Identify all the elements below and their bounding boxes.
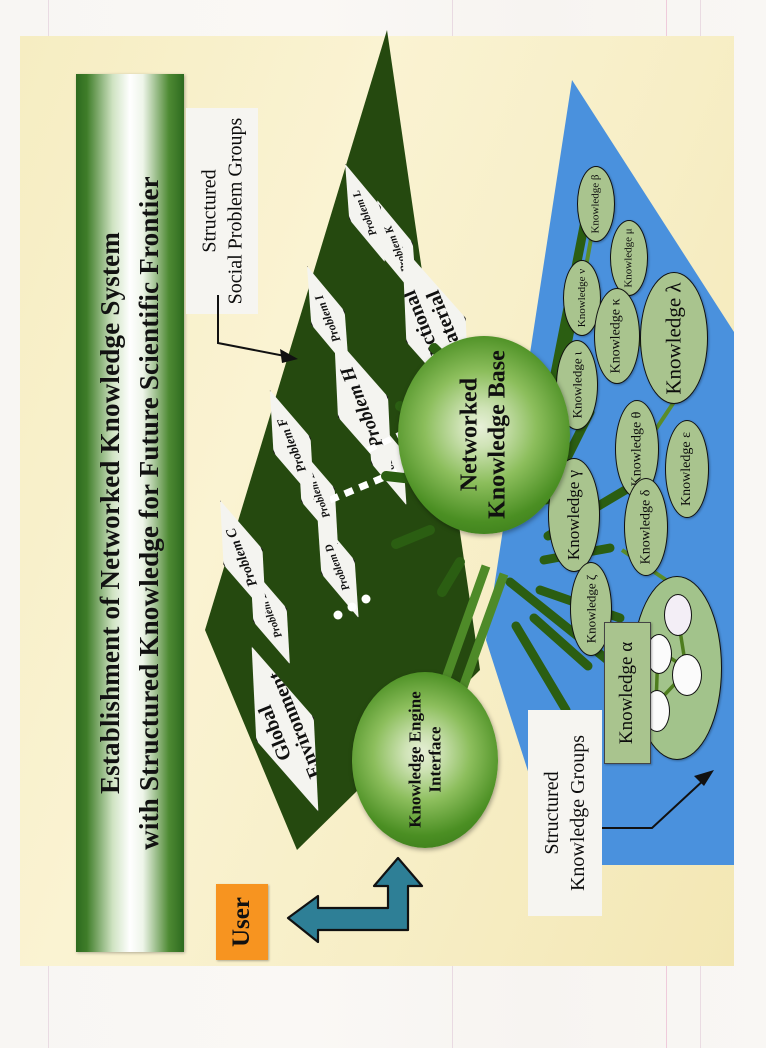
user-box[interactable]: User (216, 884, 268, 960)
callout-line-1: Structured (541, 771, 563, 854)
title-line-1: Establishment of Networked Knowledge Sys… (91, 83, 130, 943)
page-title: Establishment of Networked Knowledge Sys… (91, 83, 169, 943)
sphere-label-line-1: Knowledge Engine (405, 692, 424, 829)
callout-line-1: Structured (198, 169, 220, 252)
knowledge-node-alpha[interactable]: Knowledge α (604, 622, 651, 764)
sphere-label: Networked Knowledge Base (456, 351, 511, 520)
knowledge-node-label: Knowledge λ (662, 282, 687, 394)
knowledge-node-label: Knowledge ε (679, 432, 695, 506)
callout-line-2: Knowledge Groups (567, 735, 589, 891)
callout-leader-social-problems (212, 295, 322, 380)
callout-structured-knowledge-groups: Structured Knowledge Groups (528, 710, 602, 916)
callout-leader-knowledge-groups (600, 760, 720, 830)
callout-structured-social-problem-groups: Structured Social Problem Groups (186, 108, 258, 314)
knowledge-node-label: Knowledge γ (564, 470, 584, 560)
title-banner: Establishment of Networked Knowledge Sys… (76, 74, 184, 952)
callout-text: Structured Knowledge Groups (539, 735, 591, 891)
knowledge-node-label: Knowledge β (590, 174, 602, 233)
knowledge-node-label: Knowledge μ (623, 228, 635, 287)
knowledge-node-label: Knowledge ι (569, 352, 585, 419)
sphere-label: Knowledge Engine Interface (405, 692, 444, 829)
user-label: User (228, 897, 256, 947)
sphere-label-line-1: Networked (456, 378, 482, 491)
sphere-label-line-2: Interface (425, 727, 444, 793)
sphere-label-line-2: Knowledge Base (484, 351, 510, 520)
callout-line-2: Social Problem Groups (224, 118, 246, 305)
knowledge-node-label: Knowledge ν (576, 269, 588, 327)
knowledge-node-delta[interactable]: Knowledge δ (624, 478, 668, 576)
knowledge-node-label: Knowledge α (617, 642, 639, 744)
knowledge-node-mu[interactable]: Knowledge μ (610, 220, 648, 296)
knowledge-node-label: Knowledge ζ (583, 575, 599, 644)
knowledge-node-lambda[interactable]: Knowledge λ (640, 272, 708, 404)
knowledge-node-label: Knowledge κ (609, 298, 625, 373)
knowledge-subnode[interactable] (672, 654, 702, 696)
knowledge-node-label: Knowledge θ (629, 412, 645, 487)
knowledge-node-beta[interactable]: Knowledge β (577, 166, 615, 242)
knowledge-node-kappa[interactable]: Knowledge κ (594, 288, 640, 384)
networked-knowledge-base-sphere[interactable]: Networked Knowledge Base (398, 336, 570, 534)
knowledge-node-epsilon[interactable]: Knowledge ε (665, 420, 709, 518)
callout-text: Structured Social Problem Groups (196, 118, 248, 305)
knowledge-node-label: Knowledge δ (638, 490, 654, 565)
user-bidirectional-arrow[interactable] (282, 856, 442, 966)
knowledge-engine-interface-sphere[interactable]: Knowledge Engine Interface (352, 672, 498, 848)
knowledge-subnode[interactable] (664, 594, 692, 636)
title-line-2: with Structured Knowledge for Future Sci… (130, 83, 169, 943)
